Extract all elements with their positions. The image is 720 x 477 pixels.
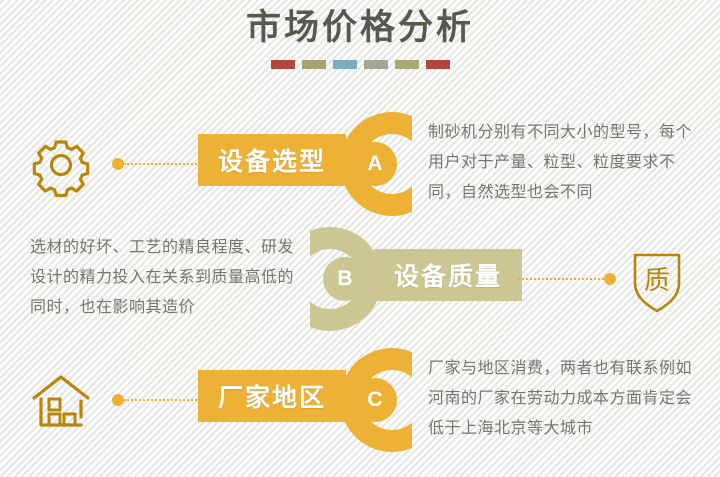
- connector-dot-c: [112, 394, 124, 406]
- letter-badge-text-a: A: [367, 152, 382, 176]
- section-label-a: 设备选型: [218, 142, 326, 178]
- section-row-equipment-selection: 设备选型 A 制砂机分别有不同大小的型号，每个用户对于产量、粒型、粒度要求不同，…: [0, 112, 720, 216]
- page-title: 市场价格分析: [0, 6, 720, 50]
- color-swatch-row: [0, 60, 720, 69]
- connector-dot-a: [112, 158, 124, 170]
- badge-group-a[interactable]: 设备选型 A: [198, 112, 410, 216]
- swatch-red-2: [426, 60, 450, 69]
- letter-badge-text-b: B: [337, 267, 352, 291]
- badge-group-c[interactable]: 厂家地区 C: [198, 348, 410, 452]
- section-description-a: 制砂机分别有不同大小的型号，每个用户对于产量、粒型、粒度要求不同，自然选型也会不…: [428, 118, 698, 208]
- house-icon: [26, 366, 96, 436]
- label-bar-c[interactable]: 厂家地区: [198, 370, 346, 422]
- gear-icon: [26, 130, 96, 200]
- section-label-b: 设备质量: [394, 257, 502, 293]
- shield-glyph: 质: [644, 265, 670, 295]
- section-row-equipment-quality: 选材的好坏、工艺的精良程度、研发设计的精力投入在关系到质量高低的同时，也在影响其…: [0, 227, 720, 331]
- section-description-b: 选材的好坏、工艺的精良程度、研发设计的精力投入在关系到质量高低的同时，也在影响其…: [30, 233, 310, 323]
- swatch-blue: [333, 60, 357, 69]
- connector-dot-b: [604, 273, 616, 285]
- swatch-red-1: [271, 60, 295, 69]
- letter-badge-a: A: [353, 142, 397, 186]
- shield-quality-icon: 质: [622, 245, 692, 315]
- swatch-gray: [364, 60, 388, 69]
- connector-line-c: [112, 394, 204, 406]
- connector-line-b: [518, 273, 616, 285]
- header-block: 市场价格分析: [0, 6, 720, 69]
- connector-dash-a: [124, 163, 204, 165]
- label-bar-b[interactable]: 设备质量: [374, 249, 522, 301]
- letter-badge-b: B: [323, 257, 367, 301]
- connector-dash-b: [518, 278, 604, 280]
- label-bar-a[interactable]: 设备选型: [198, 134, 346, 186]
- swatch-olive-2: [395, 60, 419, 69]
- infographic-page: 市场价格分析 设备选型: [0, 0, 720, 477]
- section-row-manufacturer-region: 厂家地区 C 厂家与地区消费，两者也有联系例如河南的厂家在劳动力成本方面肯定会低…: [0, 348, 720, 452]
- section-description-c: 厂家与地区消费，两者也有联系例如河南的厂家在劳动力成本方面肯定会低于上海北京等大…: [428, 354, 698, 444]
- swatch-olive-1: [302, 60, 326, 69]
- letter-badge-c: C: [353, 378, 397, 422]
- section-label-c: 厂家地区: [218, 378, 326, 414]
- letter-badge-text-c: C: [367, 388, 382, 412]
- connector-dash-c: [124, 399, 204, 401]
- badge-group-b[interactable]: 设备质量 B: [310, 227, 522, 331]
- connector-line-a: [112, 158, 204, 170]
